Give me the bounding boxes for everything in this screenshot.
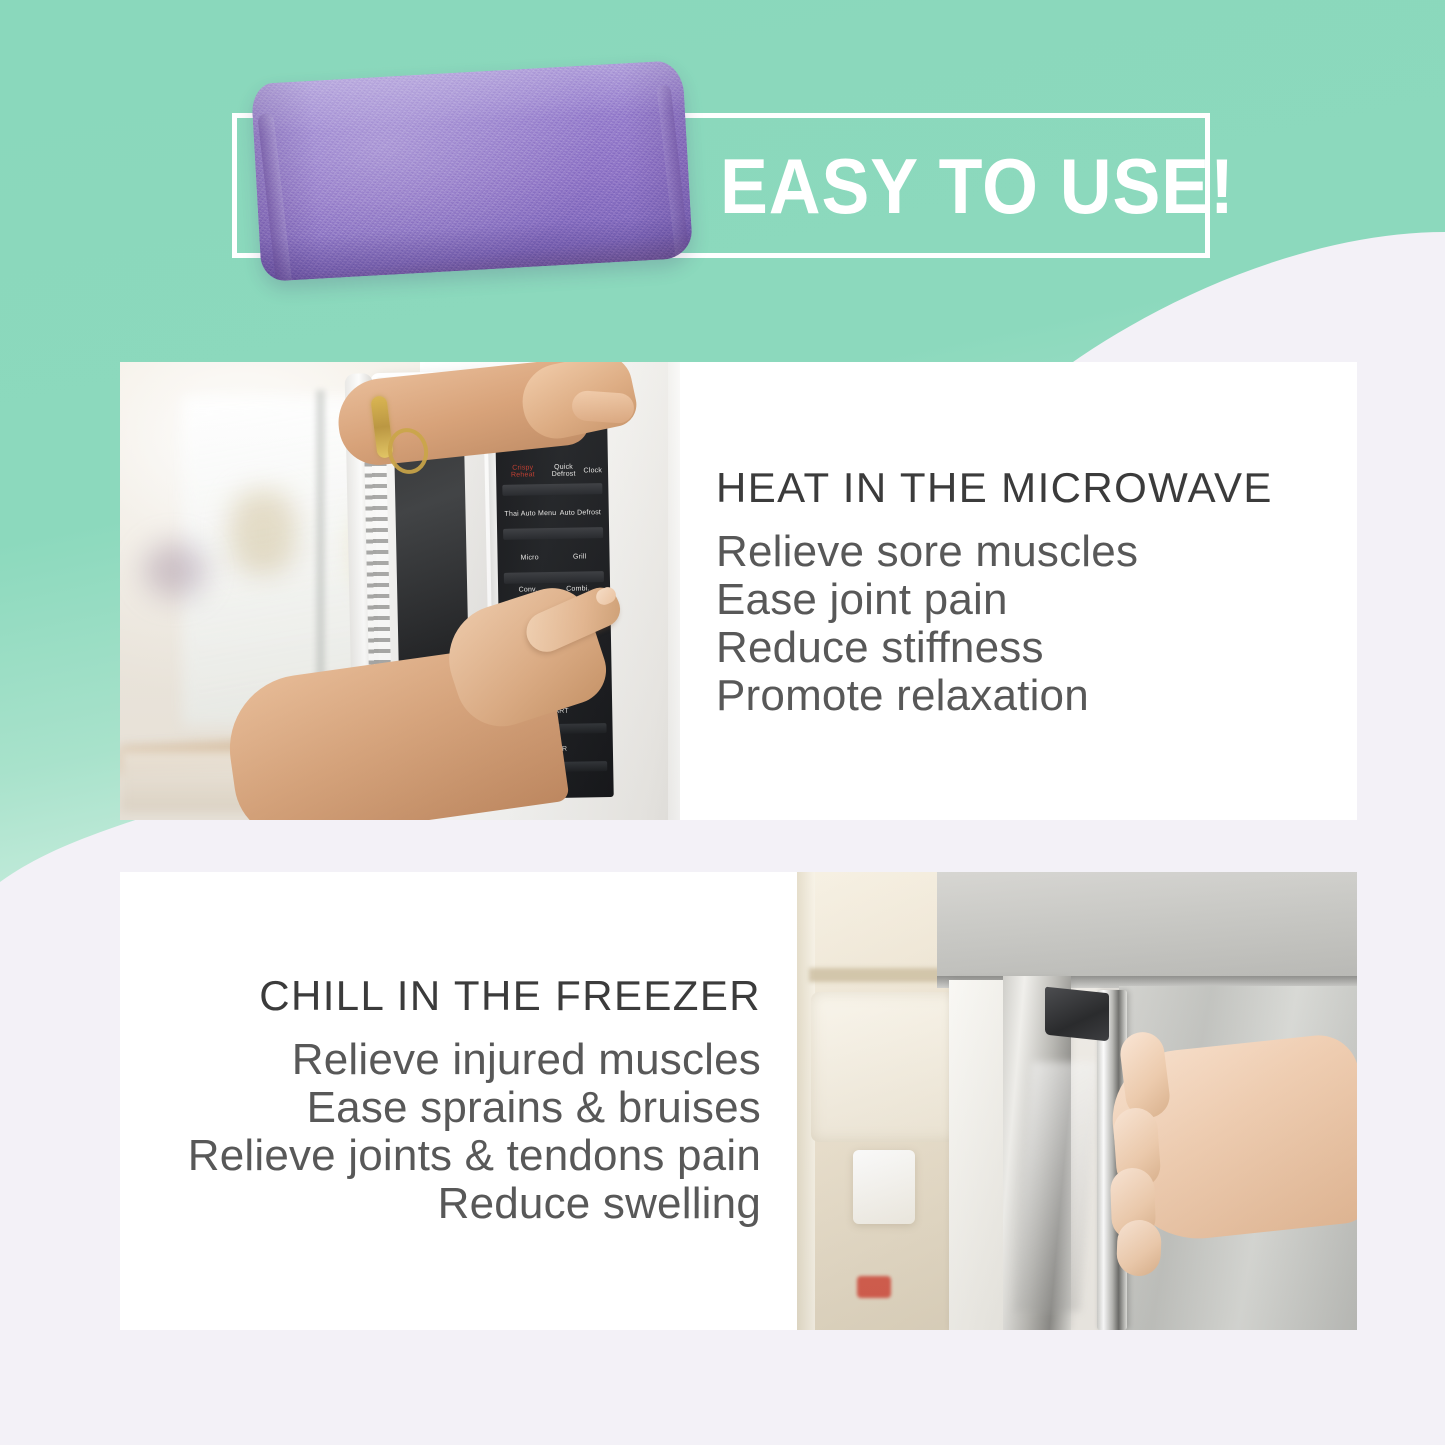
section-card-heat: 0 Crispy Reheat Quick Defrost Clock Thai… — [120, 362, 1357, 820]
photo-microwave: 0 Crispy Reheat Quick Defrost Clock Thai… — [120, 362, 680, 820]
section-heading-chill: CHILL IN THE FREEZER — [259, 972, 761, 1020]
fleece-pack-body — [251, 60, 693, 282]
hero-banner: EASY TO USE! — [0, 0, 1445, 360]
section-heading-heat: HEAT IN THE MICROWAVE — [716, 464, 1273, 512]
benefit-item: Reduce stiffness — [716, 624, 1138, 672]
infographic-stage: EASY TO USE! — [0, 0, 1445, 1445]
button-micro: Micro — [521, 554, 539, 561]
text-block-chill: CHILL IN THE FREEZER Relieve injured mus… — [120, 872, 797, 1330]
benefit-item: Promote relaxation — [716, 672, 1138, 720]
text-block-heat: HEAT IN THE MICROWAVE Relieve sore muscl… — [680, 362, 1357, 820]
button-auto-defrost: Auto Defrost — [560, 509, 601, 517]
hand-upper-thumb — [571, 390, 635, 424]
button-clock: Clock — [583, 467, 602, 474]
button-thai-auto-menu: Thai Auto Menu — [504, 510, 556, 518]
benefit-item: Ease sprains & bruises — [188, 1084, 761, 1132]
photo-freezer — [797, 872, 1357, 1330]
benefit-item: Reduce swelling — [188, 1180, 761, 1228]
pack-seam-left — [257, 113, 294, 282]
freezer-finger — [1116, 1219, 1162, 1277]
benefit-item: Relieve sore muscles — [716, 528, 1138, 576]
product-image-therapy-pack — [244, 46, 704, 304]
button-quick-defrost: Quick Defrost — [544, 463, 584, 478]
benefit-list-heat: Relieve sore muscles Ease joint pain Red… — [716, 528, 1138, 720]
pack-seam-right — [656, 85, 691, 271]
benefit-item: Ease joint pain — [716, 576, 1138, 624]
handle-cap — [1045, 987, 1109, 1042]
button-grill: Grill — [573, 553, 587, 560]
benefit-item: Relieve injured muscles — [188, 1036, 761, 1084]
button-crispy-reheat: Crispy Reheat — [502, 464, 544, 479]
benefit-list-chill: Relieve injured muscles Ease sprains & b… — [188, 1036, 761, 1228]
section-card-chill: CHILL IN THE FREEZER Relieve injured mus… — [120, 872, 1357, 1330]
hero-title: EASY TO USE! — [720, 138, 1180, 234]
benefit-item: Relieve joints & tendons pain — [188, 1132, 761, 1180]
